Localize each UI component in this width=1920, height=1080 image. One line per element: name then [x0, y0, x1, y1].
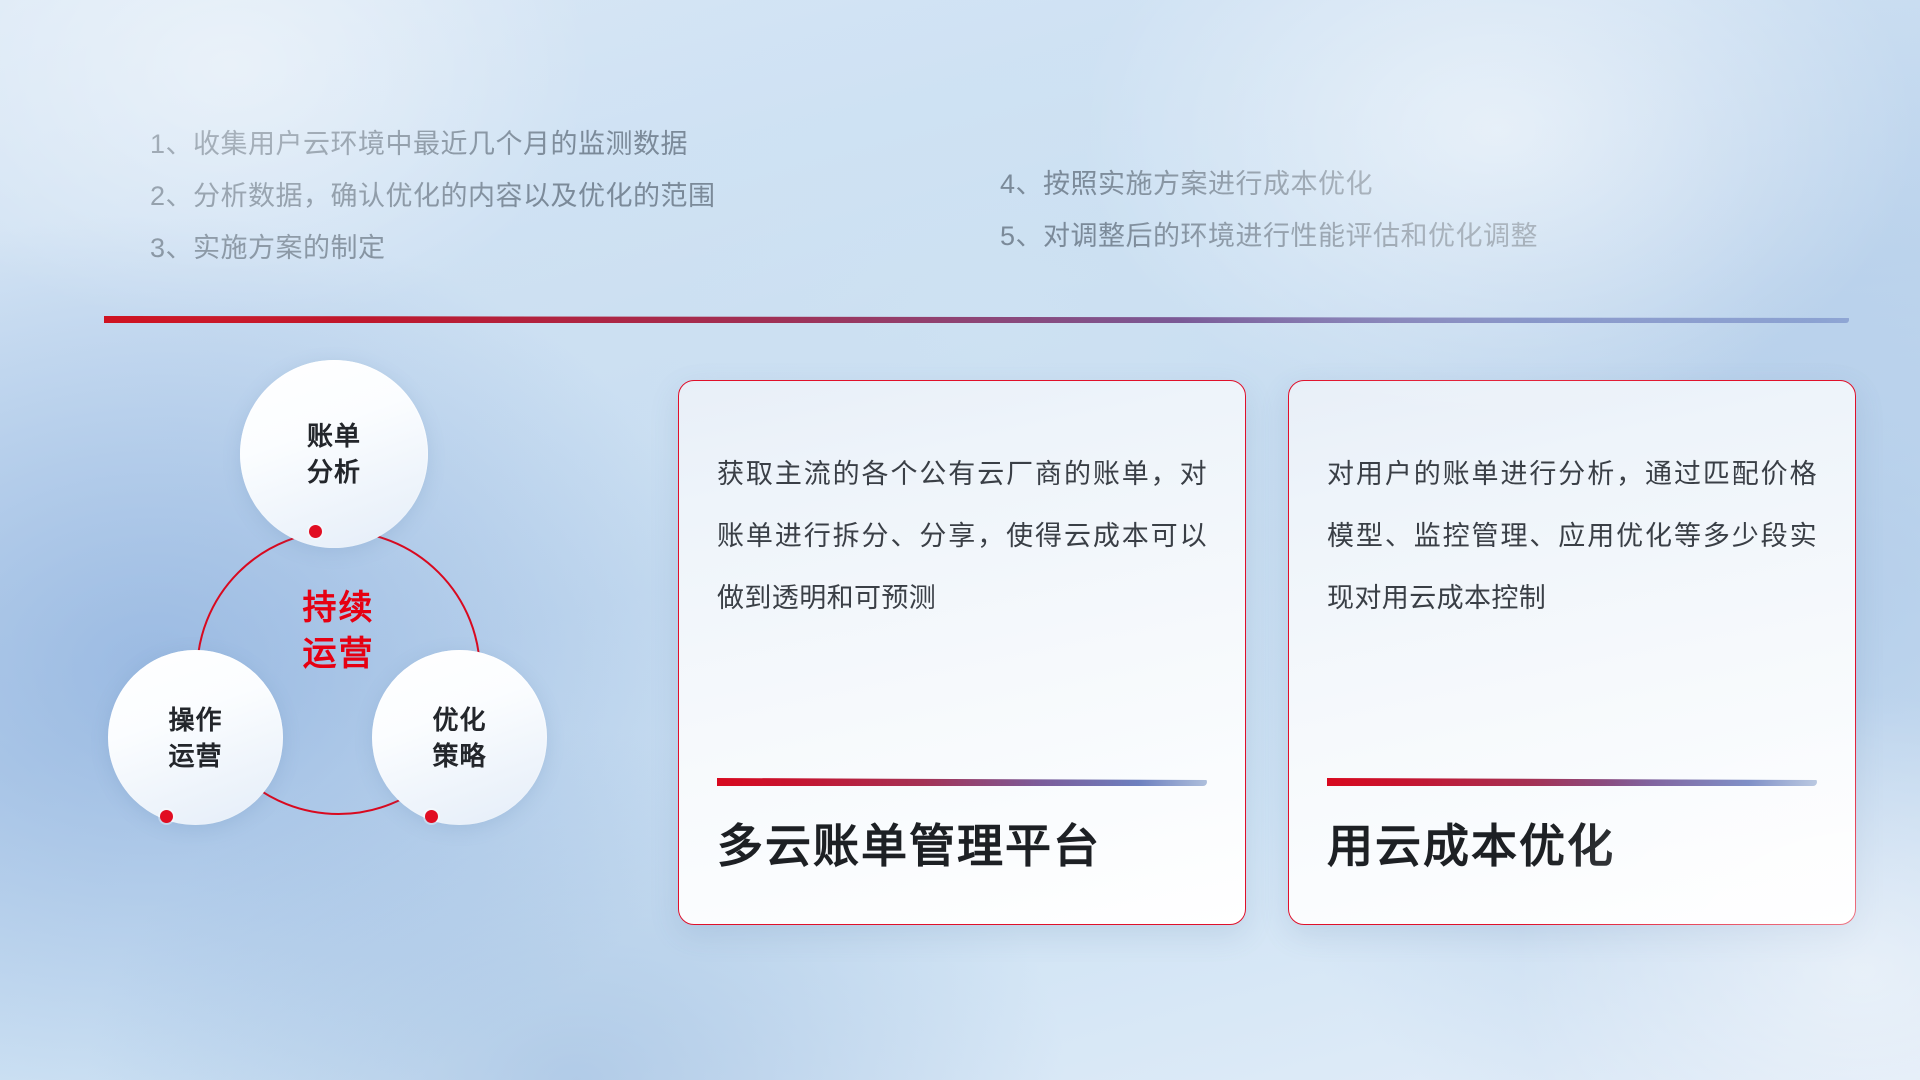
steps-list-left: 1、收集用户云环境中最近几个月的监测数据 2、分析数据，确认优化的内容以及优化的…: [150, 118, 716, 274]
center-label-line-1: 持续: [196, 585, 481, 631]
card-divider: [717, 778, 1207, 786]
bubble-label: 账单 分析: [307, 418, 361, 490]
bubble-label-line-1: 账单: [307, 418, 361, 454]
bubble-label: 操作 运营: [168, 702, 222, 774]
step-item-1: 1、收集用户云环境中最近几个月的监测数据: [150, 118, 716, 170]
step-item-3: 3、实施方案的制定: [150, 222, 716, 274]
step-item-4: 4、按照实施方案进行成本优化: [1000, 158, 1538, 210]
card-divider: [1327, 778, 1817, 786]
step-item-2: 2、分析数据，确认优化的内容以及优化的范围: [150, 170, 716, 222]
bubble-label-line-1: 优化: [432, 702, 486, 738]
feature-card-cloud-cost-optimization[interactable]: 对用户的账单进行分析，通过匹配价格模型、监控管理、应用优化等多少段实现对用云成本…: [1288, 380, 1856, 925]
steps-list-right: 4、按照实施方案进行成本优化 5、对调整后的环境进行性能评估和优化调整: [1000, 158, 1538, 262]
connector-dot-left: [160, 810, 173, 823]
bubble-label-line-1: 操作: [168, 702, 222, 738]
slide-canvas: 1、收集用户云环境中最近几个月的监测数据 2、分析数据，确认优化的内容以及优化的…: [0, 0, 1920, 1080]
continuous-operation-diagram: 持续 运营 账单 分析 操作 运营 优化 策略: [100, 360, 660, 950]
card-description: 对用户的账单进行分析，通过匹配价格模型、监控管理、应用优化等多少段实现对用云成本…: [1327, 443, 1817, 629]
diagram-bubble-optimization-strategy[interactable]: 优化 策略: [372, 650, 547, 825]
section-divider: [104, 316, 1849, 323]
connector-dot-right: [425, 810, 438, 823]
bubble-label-line-2: 分析: [307, 454, 361, 490]
bubble-label-line-2: 策略: [432, 738, 486, 774]
step-item-5: 5、对调整后的环境进行性能评估和优化调整: [1000, 210, 1538, 262]
diagram-bubble-billing-analysis[interactable]: 账单 分析: [240, 360, 428, 548]
bubble-label-line-2: 运营: [168, 738, 222, 774]
connector-dot-top: [309, 525, 322, 538]
card-title: 多云账单管理平台: [717, 816, 1207, 924]
card-title: 用云成本优化: [1327, 816, 1817, 924]
card-description: 获取主流的各个公有云厂商的账单，对账单进行拆分、分享，使得云成本可以做到透明和可…: [717, 443, 1207, 629]
diagram-bubble-operations[interactable]: 操作 运营: [108, 650, 283, 825]
feature-card-multicloud-billing[interactable]: 获取主流的各个公有云厂商的账单，对账单进行拆分、分享，使得云成本可以做到透明和可…: [678, 380, 1246, 925]
bubble-label: 优化 策略: [432, 702, 486, 774]
